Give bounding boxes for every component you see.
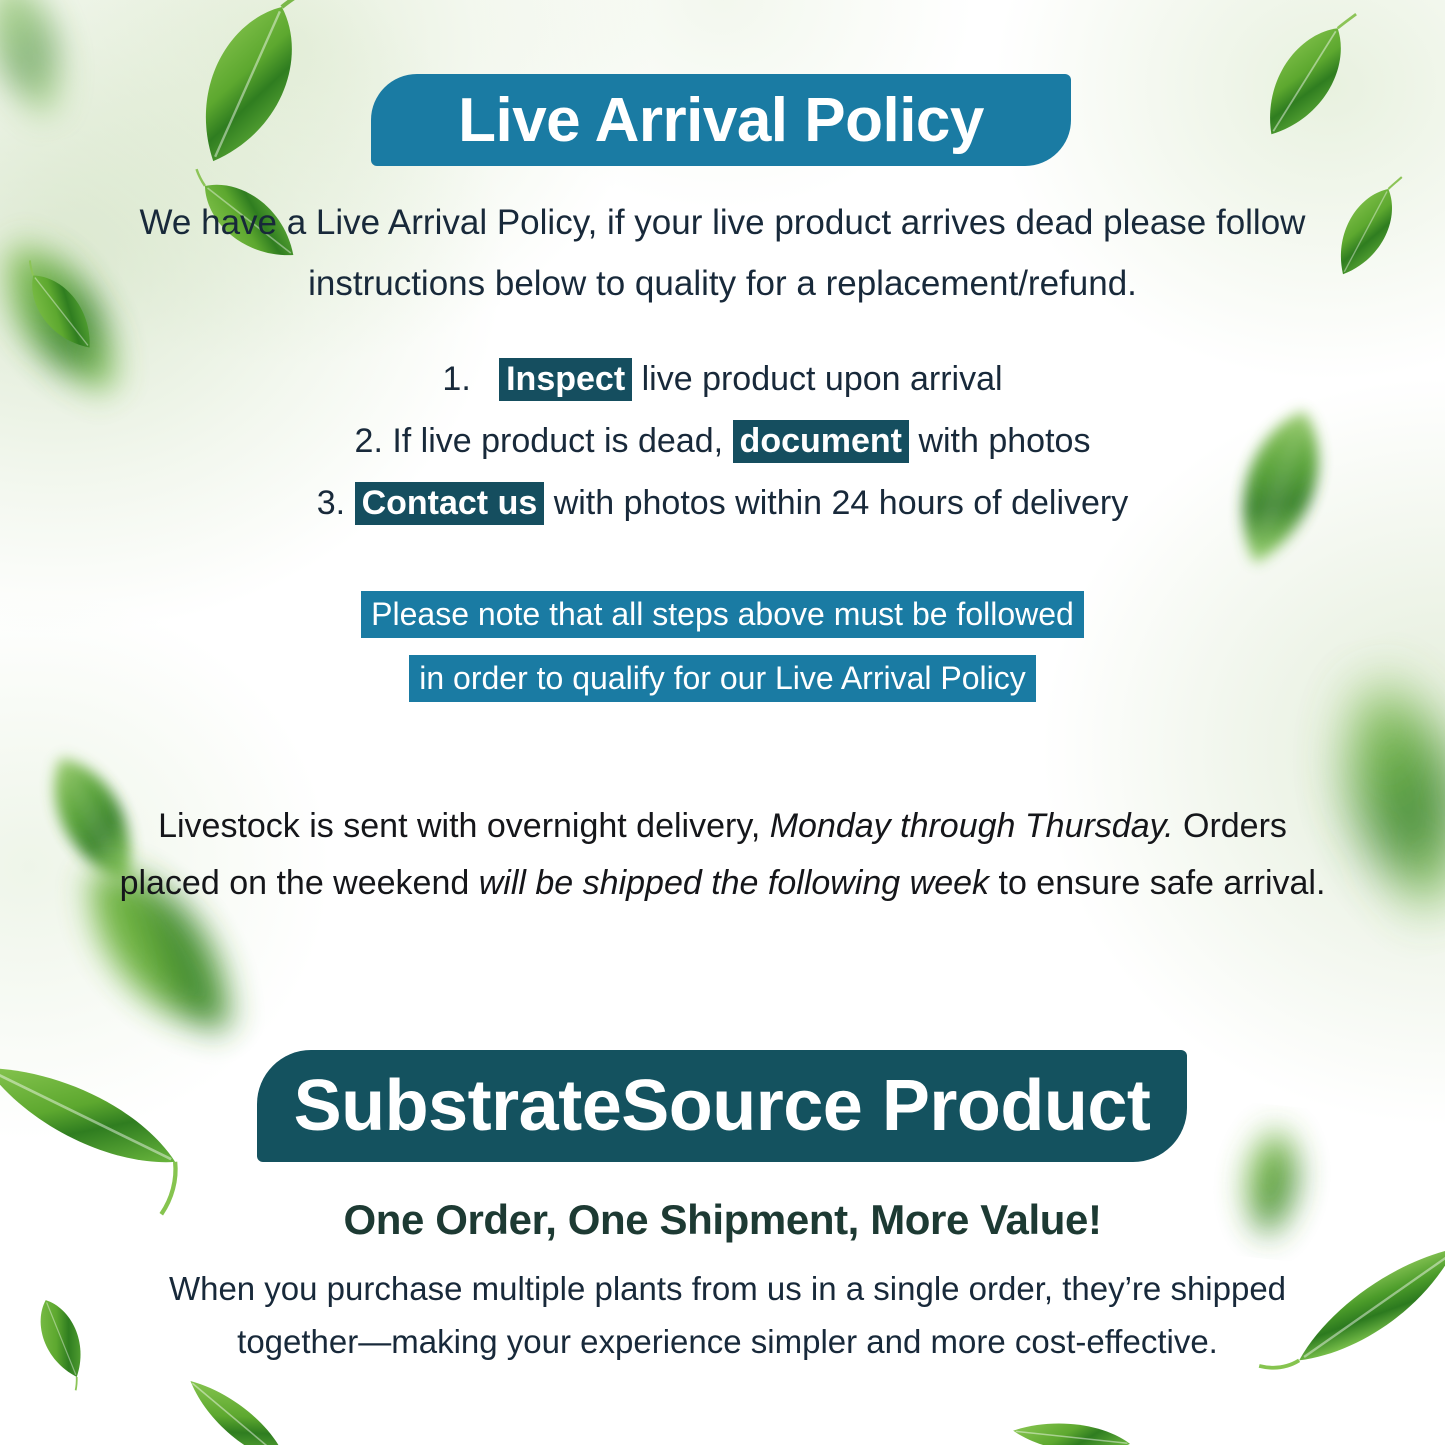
live-arrival-policy-banner: Live Arrival Policy (371, 74, 1071, 166)
shipping-text-3: to ensure safe arrival. (989, 864, 1325, 902)
step-highlight: Inspect (499, 358, 632, 401)
list-item: 2. If live product is dead, document wit… (110, 410, 1335, 472)
shipping-text-1: Livestock is sent with overnight deliver… (158, 807, 770, 845)
live-arrival-policy-title: Live Arrival Policy (458, 85, 984, 156)
step-highlight: document (733, 420, 909, 463)
intro-line-2: instructions below to quality for a repl… (110, 253, 1335, 314)
leaf-icon (0, 243, 128, 379)
leaf-icon (0, 0, 123, 149)
shipping-italic-1: Monday through Thursday. (770, 807, 1174, 845)
list-item: 1. Inspect live product upon arrival (110, 348, 1335, 410)
value-subheading: One Order, One Shipment, More Value! (110, 1196, 1335, 1244)
leaf-icon (7, 1279, 115, 1397)
outro-paragraph: When you purchase multiple plants from u… (110, 1262, 1345, 1368)
intro-line-1: We have a Live Arrival Policy, if your l… (110, 192, 1335, 253)
substratesource-product-banner: SubstrateSource Product (257, 1050, 1187, 1162)
outro-line-1: When you purchase multiple plants from u… (110, 1262, 1345, 1315)
step-text-after: with photos within 24 hours of delivery (554, 484, 1129, 522)
substratesource-product-title: SubstrateSource Product (294, 1065, 1151, 1147)
steps-list: 1. Inspect live product upon arrival 2. … (110, 348, 1335, 534)
intro-paragraph: We have a Live Arrival Policy, if your l… (110, 192, 1335, 314)
shipping-paragraph: Livestock is sent with overnight deliver… (110, 798, 1335, 912)
leaf-icon (0, 1041, 201, 1200)
step-text-before: If live product is dead, (392, 422, 723, 460)
step-number: 2. (355, 422, 383, 460)
policy-note: Please note that all steps above must be… (110, 582, 1335, 710)
promo-page: Live Arrival Policy We have a Live Arriv… (0, 0, 1445, 1445)
outro-line-2: together—making your experience simpler … (110, 1315, 1345, 1368)
shipping-italic-2: will be shipped the following week (479, 864, 989, 902)
leaf-icon (1216, 0, 1395, 174)
list-item: 3. Contact us with photos within 24 hour… (110, 472, 1335, 534)
leaf-icon (136, 0, 359, 202)
policy-note-line-1: Please note that all steps above must be… (361, 591, 1084, 638)
leaf-icon (166, 1365, 317, 1445)
step-text-after: with photos (918, 422, 1090, 460)
step-number: 1. (442, 360, 470, 398)
step-number: 3. (317, 484, 345, 522)
step-text-after: live product upon arrival (642, 360, 1003, 398)
policy-note-line-2: in order to qualify for our Live Arrival… (409, 655, 1035, 702)
leaf-icon (1009, 1390, 1142, 1445)
step-highlight: Contact us (355, 482, 545, 525)
